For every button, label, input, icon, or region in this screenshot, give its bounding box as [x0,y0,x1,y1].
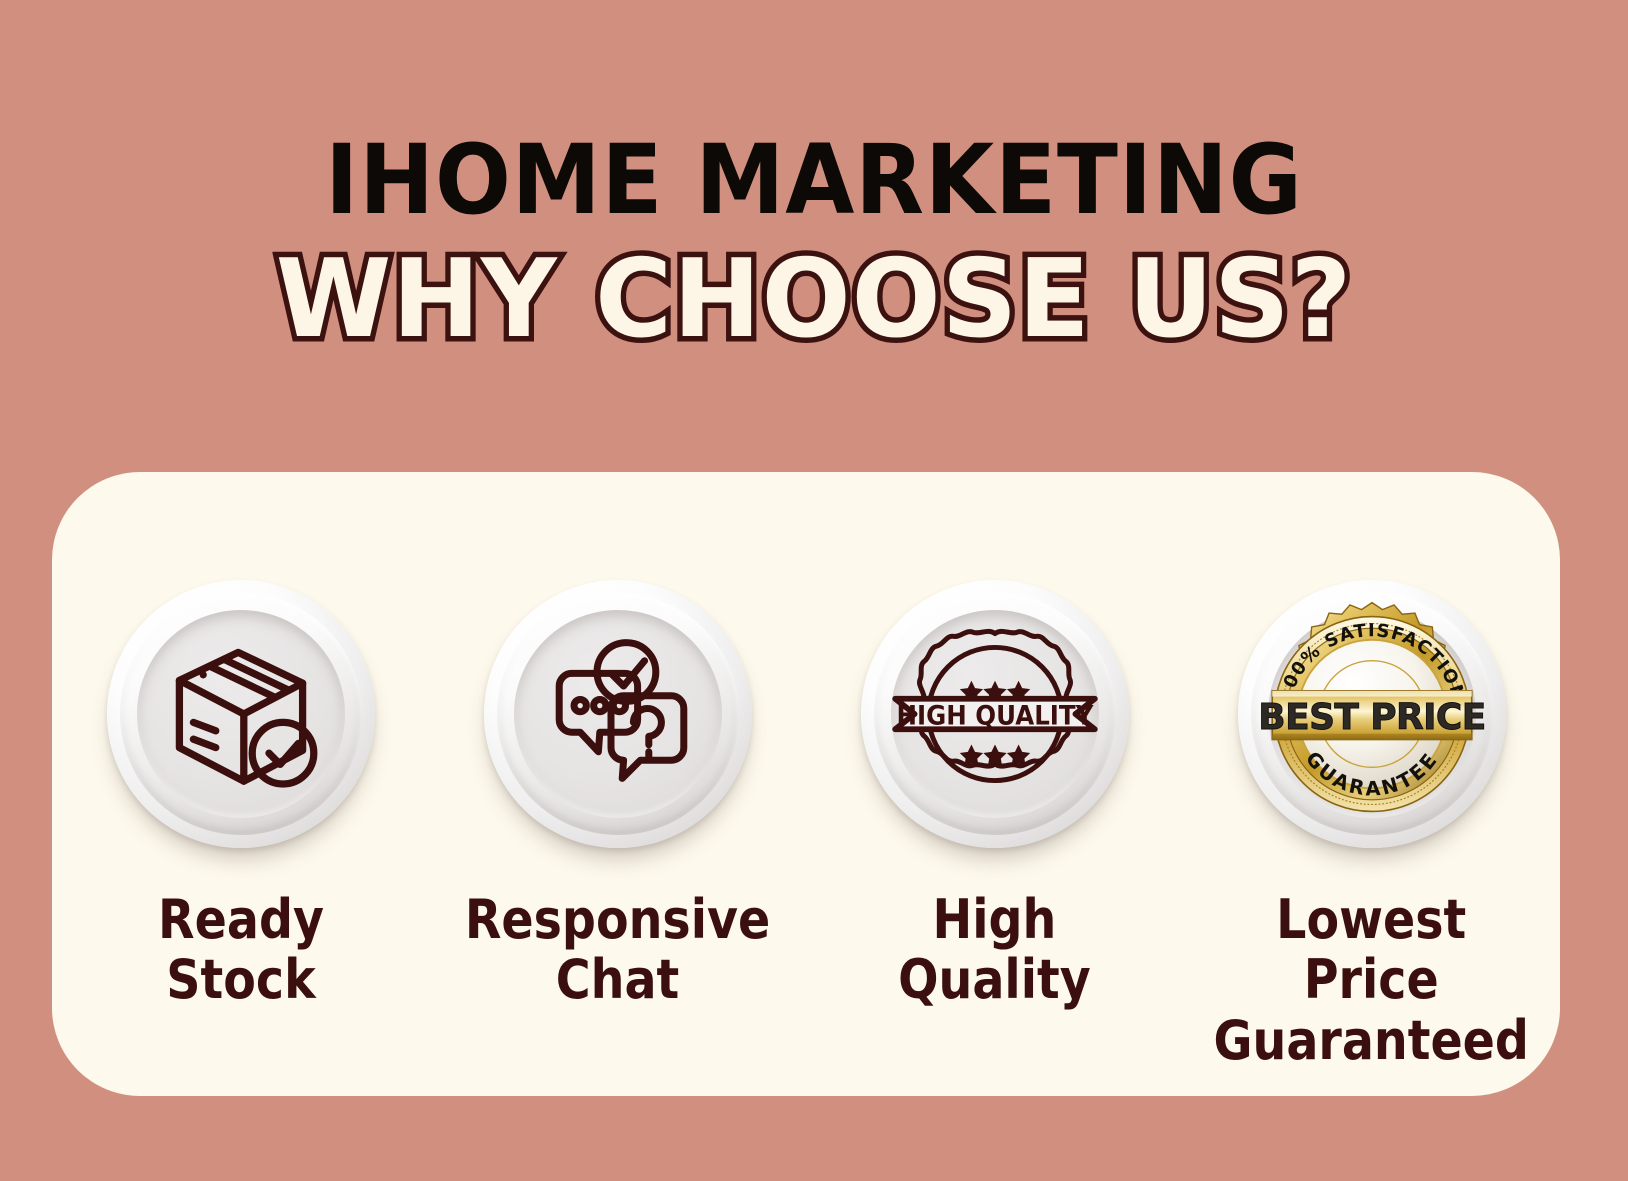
feature-label-ready-stock: Ready Stock [91,848,390,1011]
features-list: Ready Stock [52,472,1560,1096]
medallion-ready-stock [107,580,375,848]
page-subtitle: WHY CHOOSE US? [24,228,1603,354]
page-title: IHOME MARKETING [57,0,1571,228]
seal-center-text: BEST PRICE [1258,697,1485,738]
feature-item-lowest-price[interactable]: 100% SATISFACTION GUARANTEE BEST PRICE L… [1202,580,1542,1071]
feature-label-responsive-chat: Responsive Chat [465,848,770,1011]
medallion-responsive-chat [484,580,752,848]
medallion-lowest-price: 100% SATISFACTION GUARANTEE BEST PRICE [1238,580,1506,848]
feature-item-responsive-chat[interactable]: Responsive Chat [448,580,788,1011]
feature-item-high-quality[interactable]: HIGH QUALITY High Quality [825,580,1165,1011]
medallion-high-quality: HIGH QUALITY [861,580,1129,848]
feature-label-high-quality: High Quality [898,848,1091,1011]
best-price-gold-seal-icon: 100% SATISFACTION GUARANTEE BEST PRICE [1256,598,1488,830]
feature-item-ready-stock[interactable]: Ready Stock [71,580,411,1011]
high-quality-ribbon-badge-icon: HIGH QUALITY [891,610,1099,818]
chat-bubbles-question-check-icon [514,610,722,818]
package-box-check-icon [137,610,345,818]
header-block: IHOME MARKETING WHY CHOOSE US? [0,0,1628,354]
features-card: Ready Stock [52,472,1560,1096]
high-quality-badge-text: HIGH QUALITY [896,700,1093,731]
feature-label-lowest-price: Lowest Price Guaranteed [1214,848,1529,1071]
